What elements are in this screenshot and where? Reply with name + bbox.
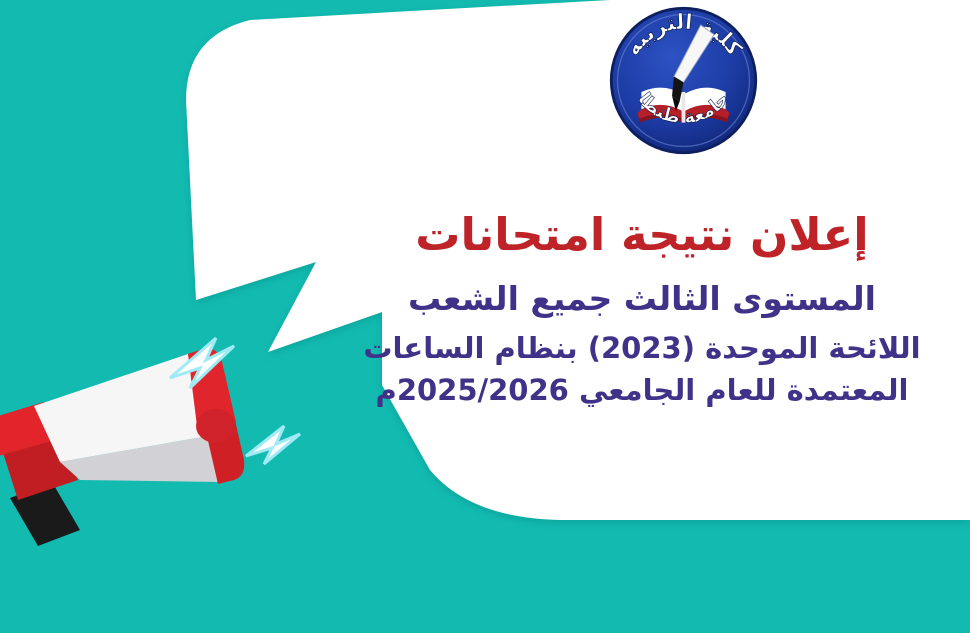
announcement-line-1: المستوى الثالث جميع الشعب <box>342 277 942 322</box>
sound-wave-bolts <box>150 330 350 490</box>
announcement-line-2: اللائحة الموحدة (2023) بنظام الساعات <box>342 329 942 368</box>
announcement-text-block: إعلان نتيجة امتحانات المستوى الثالث جميع… <box>342 208 942 410</box>
lightning-bolt-icon <box>170 338 234 388</box>
announcement-poster: كلية التربيه جامعة طنطا <box>0 0 970 633</box>
lightning-bolt-icon <box>246 426 300 464</box>
announcement-headline: إعلان نتيجة امتحانات <box>342 208 942 263</box>
logo-emblem: كلية التربيه جامعة طنطا <box>607 4 760 157</box>
faculty-logo: كلية التربيه جامعة طنطا <box>607 4 760 157</box>
announcement-line-3: المعتمدة للعام الجامعي 2025/2026م <box>342 371 942 410</box>
